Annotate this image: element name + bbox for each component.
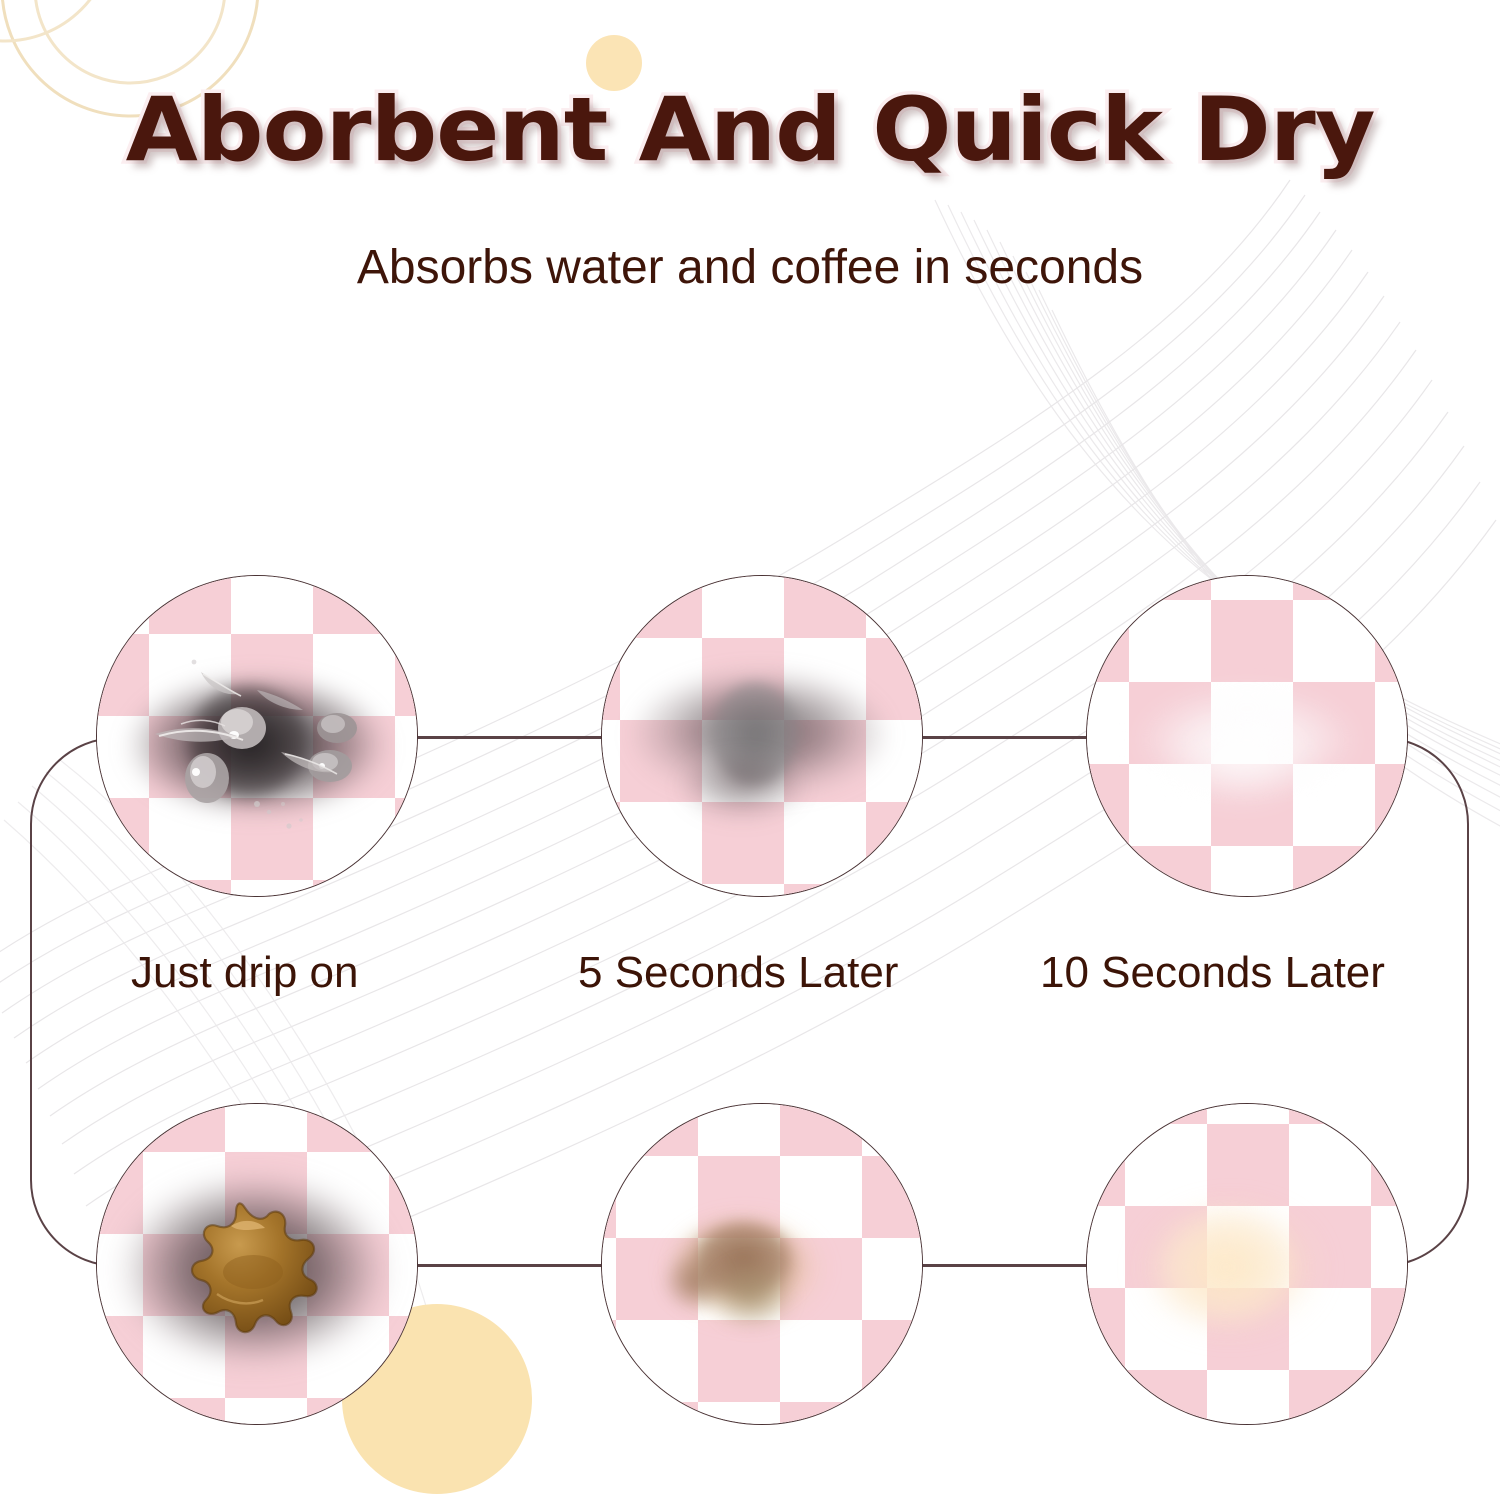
stage-circle-water-drip-on xyxy=(96,575,418,897)
stage-circle-water-5s xyxy=(601,575,923,897)
coffee-stain-lobe-bottom xyxy=(712,1262,792,1328)
caption-just-drip-on: Just drip on xyxy=(131,948,358,998)
headline-container: Aborbent And Quick Dry xyxy=(0,86,1500,174)
page-subtitle: Absorbs water and coffee in seconds xyxy=(357,240,1143,295)
stage-circle-coffee-drip-on xyxy=(96,1103,418,1425)
coffee-splash-icon xyxy=(97,1104,418,1425)
caption-10-seconds-later: 10 Seconds Later xyxy=(1040,948,1385,998)
stage-circle-coffee-10s xyxy=(1086,1103,1408,1425)
coffee-stain-residual-core xyxy=(1161,1214,1289,1320)
stage-circle-water-10s xyxy=(1086,575,1408,897)
stage-circle-coffee-5s xyxy=(601,1103,923,1425)
page-title: Aborbent And Quick Dry xyxy=(126,86,1375,174)
caption-5-seconds-later: 5 Seconds Later xyxy=(578,948,898,998)
subheadline-container: Absorbs water and coffee in seconds xyxy=(0,240,1500,295)
water-stain-tail xyxy=(680,758,804,820)
water-stain-residual-2 xyxy=(1141,702,1341,822)
water-droplets-icon xyxy=(97,576,418,897)
infographic-canvas: Aborbent And Quick Dry Absorbs water and… xyxy=(0,0,1500,1496)
